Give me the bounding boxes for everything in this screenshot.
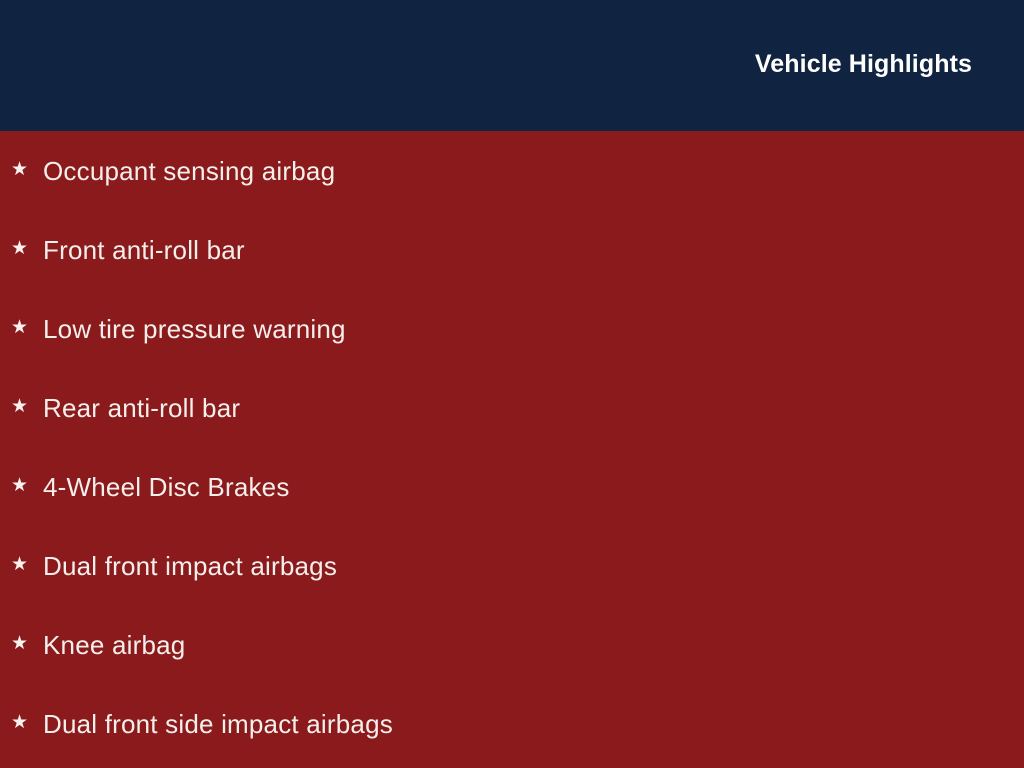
page-title: Vehicle Highlights xyxy=(755,49,972,79)
list-item-label: Occupant sensing airbag xyxy=(43,155,335,187)
star-bullet-icon: ★ xyxy=(11,318,32,337)
vehicle-highlights-slide: Vehicle Highlights ★ Occupant sensing ai… xyxy=(0,0,1024,768)
list-item-label: Rear anti-roll bar xyxy=(43,392,240,424)
list-item-label: 4-Wheel Disc Brakes xyxy=(43,471,290,503)
list-item: ★ Knee airbag xyxy=(0,605,1024,684)
vehicle-highlights-list: ★ Occupant sensing airbag ★ Front anti-r… xyxy=(0,131,1024,763)
star-bullet-icon: ★ xyxy=(11,634,32,653)
list-item-label: Dual front side impact airbags xyxy=(43,708,393,740)
list-item-label: Dual front impact airbags xyxy=(43,550,337,582)
list-item: ★ Rear anti-roll bar xyxy=(0,368,1024,447)
list-item: ★ Dual front impact airbags xyxy=(0,526,1024,605)
slide-header-band: Vehicle Highlights xyxy=(0,0,1024,131)
list-item: ★ Dual front side impact airbags xyxy=(0,684,1024,763)
list-item: ★ Occupant sensing airbag xyxy=(0,131,1024,210)
star-bullet-icon: ★ xyxy=(11,160,32,179)
list-item: ★ Front anti-roll bar xyxy=(0,210,1024,289)
list-item: ★ 4-Wheel Disc Brakes xyxy=(0,447,1024,526)
star-bullet-icon: ★ xyxy=(11,397,32,416)
list-item-label: Front anti-roll bar xyxy=(43,234,245,266)
star-bullet-icon: ★ xyxy=(11,555,32,574)
list-item-label: Knee airbag xyxy=(43,629,185,661)
slide-body: ★ Occupant sensing airbag ★ Front anti-r… xyxy=(0,131,1024,768)
list-item-label: Low tire pressure warning xyxy=(43,313,346,345)
star-bullet-icon: ★ xyxy=(11,239,32,258)
star-bullet-icon: ★ xyxy=(11,476,32,495)
list-item: ★ Low tire pressure warning xyxy=(0,289,1024,368)
star-bullet-icon: ★ xyxy=(11,713,32,732)
